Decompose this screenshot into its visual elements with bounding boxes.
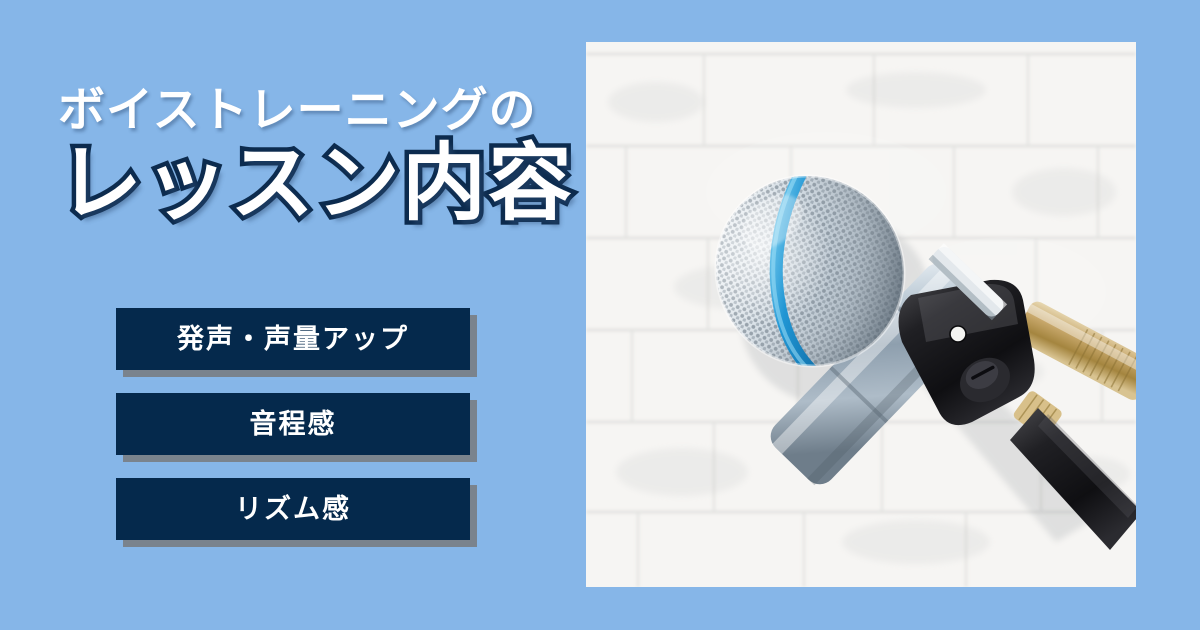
microphone-illustration — [586, 42, 1136, 587]
badge-label: 音程感 — [250, 411, 337, 438]
title-line-secondary: レッスン内容 — [58, 139, 568, 227]
badge-item: 音程感 — [116, 393, 470, 455]
badge-label: リズム感 — [235, 496, 351, 523]
badge-item: リズム感 — [116, 478, 470, 540]
title-line-primary: ボイストレーニングの — [58, 86, 568, 133]
microphone-photo — [586, 42, 1136, 587]
badge-list: 発声・声量アップ 音程感 リズム感 — [116, 308, 476, 540]
badge-label: 発声・声量アップ — [177, 326, 409, 353]
banner: ボイストレーニングの レッスン内容 発声・声量アップ 音程感 リズム感 — [0, 0, 1200, 630]
left-text-column: ボイストレーニングの レッスン内容 発声・声量アップ 音程感 リズム感 — [0, 0, 580, 630]
badge-item: 発声・声量アップ — [116, 308, 470, 370]
page-title: ボイストレーニングの レッスン内容 — [58, 86, 568, 227]
